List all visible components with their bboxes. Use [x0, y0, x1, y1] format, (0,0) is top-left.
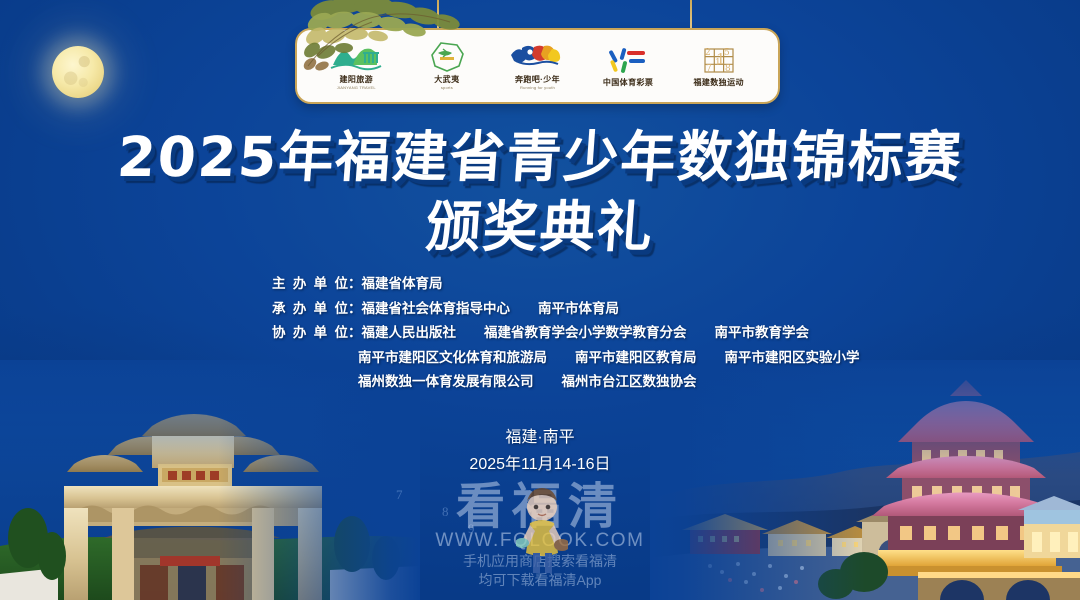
organizer-row: 南平市建阳区文化体育和旅游局 南平市建阳区教育局 南平市建阳区实验小学 [0, 346, 1080, 371]
organizer-label: 承办单位 [272, 297, 348, 322]
organizer-value: 福州数独一体育发展有限公司 [358, 370, 534, 395]
event-place-date: 福建·南平 2025年11月14-16日 [0, 424, 1080, 478]
organizer-value: 福建省教育学会小学数学教育分会 [484, 321, 687, 346]
mascot-icon [516, 485, 568, 577]
organizer-label: 主办单位 [272, 272, 348, 297]
svg-text:8: 8 [725, 64, 731, 74]
organizer-row: 协办单位 ： 福建人民出版社 福建省教育学会小学数学教育分会 南平市教育学会 [0, 321, 1080, 346]
moon-decoration [52, 46, 104, 98]
organizer-colon: ： [348, 321, 362, 346]
organizer-value: 福建人民出版社 [362, 321, 457, 346]
sudoku-grid-icon: 25 1 78 1 [698, 45, 740, 75]
organizer-colon: ： [348, 272, 362, 297]
poster-title: 2025年福建省青少年数独锦标赛 颁奖典礼 [0, 124, 1080, 260]
night-pavilion-photo [650, 360, 1080, 600]
ghost-digit: 8 [442, 504, 449, 520]
dawuyi-label: 大武夷 [434, 74, 459, 85]
china-sports-lottery-logo: 中国体育彩票 [585, 35, 671, 97]
organizer-value: 福州市台江区数独协会 [562, 370, 697, 395]
svg-text:7: 7 [706, 64, 712, 74]
organizer-block: 主办单位 ： 福建省体育局 承办单位 ： 福建省社会体育指导中心 南平市体育局 … [0, 272, 1080, 395]
organizer-value: 南平市教育学会 [715, 321, 810, 346]
sponsor-logo-bar: 建阳旅游 JIANYANG TRAVEL 大武夷 sports [295, 28, 780, 104]
jianyang-travel-label: 建阳旅游 [339, 74, 373, 85]
title-line-1: 2025年福建省青少年数独锦标赛 [0, 124, 1080, 190]
jianyang-travel-logo: 建阳旅游 JIANYANG TRAVEL [313, 35, 399, 97]
title-line-2: 颁奖典礼 [0, 194, 1080, 260]
run-youth-sublabel: Running for youth [520, 85, 555, 90]
organizer-value: 南平市建阳区实验小学 [725, 346, 860, 371]
running-youth-icon [508, 42, 566, 72]
fujian-sudoku-label: 福建数独运动 [693, 77, 743, 88]
award-ceremony-poster: 建阳旅游 JIANYANG TRAVEL 大武夷 sports [0, 0, 1080, 600]
run-youth-logo: 奔跑吧·少年 Running for youth [494, 35, 580, 97]
dawuyi-sublabel: sports [441, 85, 453, 90]
fujian-sudoku-logo: 25 1 78 1 福建数独运动 [676, 35, 762, 97]
svg-text:1: 1 [716, 50, 726, 68]
china-sports-lottery-label: 中国体育彩票 [603, 77, 653, 88]
sports-lottery-icon [605, 45, 651, 75]
organizer-row: 福州数独一体育发展有限公司 福州市台江区数独协会 [0, 370, 1080, 395]
dawuyi-map-icon [427, 42, 467, 72]
organizer-row: 主办单位 ： 福建省体育局 [0, 272, 1080, 297]
organizer-value: 南平市建阳区文化体育和旅游局 [358, 346, 547, 371]
event-location: 福建·南平 [0, 424, 1080, 451]
dawuyi-sports-logo: 大武夷 sports [404, 35, 490, 97]
organizer-value: 南平市建阳区教育局 [575, 346, 697, 371]
jianyang-travel-icon [329, 42, 383, 72]
organizer-value: 南平市体育局 [538, 297, 619, 322]
ghost-digit: 9 [468, 521, 475, 537]
event-date: 2025年11月14-16日 [0, 451, 1080, 478]
organizer-value: 福建省体育局 [362, 272, 443, 297]
jianyang-travel-sublabel: JIANYANG TRAVEL [337, 85, 376, 90]
paifang-archway-photo [0, 360, 420, 600]
run-youth-label: 奔跑吧·少年 [515, 74, 560, 85]
organizer-colon: ： [348, 297, 362, 322]
organizer-label: 协办单位 [272, 321, 348, 346]
organizer-value: 福建省社会体育指导中心 [362, 297, 511, 322]
svg-text:2: 2 [705, 48, 711, 58]
organizer-row: 承办单位 ： 福建省社会体育指导中心 南平市体育局 [0, 297, 1080, 322]
